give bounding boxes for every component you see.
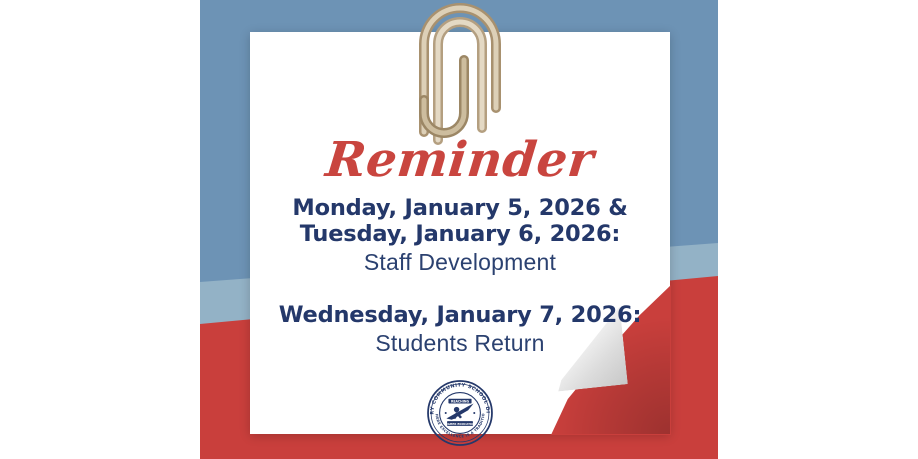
left-white-margin — [0, 0, 200, 459]
event-label: Students Return — [250, 330, 670, 358]
page-title: Reminder — [324, 136, 597, 184]
poster-background: Reminder Monday, January 5, 2026 & Tuesd… — [200, 0, 718, 459]
school-district-seal-icon: ZACHARY COMMUNITY SCHOOL DISTRICT WHERE … — [426, 379, 494, 447]
poster-canvas: Reminder Monday, January 5, 2026 & Tuesd… — [0, 0, 918, 459]
paper-note: Reminder Monday, January 5, 2026 & Tuesd… — [250, 32, 670, 434]
date-line: Tuesday, January 6, 2026: — [250, 221, 670, 247]
announcement-group-students-return: Wednesday, January 7, 2026: Students Ret… — [250, 302, 670, 358]
announcement-group-staff-development: Monday, January 5, 2026 & Tuesday, Janua… — [250, 195, 670, 277]
svg-text:HIGHER EDUCATION: HIGHER EDUCATION — [444, 422, 476, 426]
date-line: Monday, January 5, 2026 & — [250, 195, 670, 221]
date-line: Wednesday, January 7, 2026: — [250, 302, 670, 328]
event-label: Staff Development — [250, 249, 670, 277]
note-content: Reminder Monday, January 5, 2026 & Tuesd… — [250, 32, 670, 434]
svg-text:REACHING: REACHING — [451, 400, 470, 404]
right-white-margin — [718, 0, 918, 459]
